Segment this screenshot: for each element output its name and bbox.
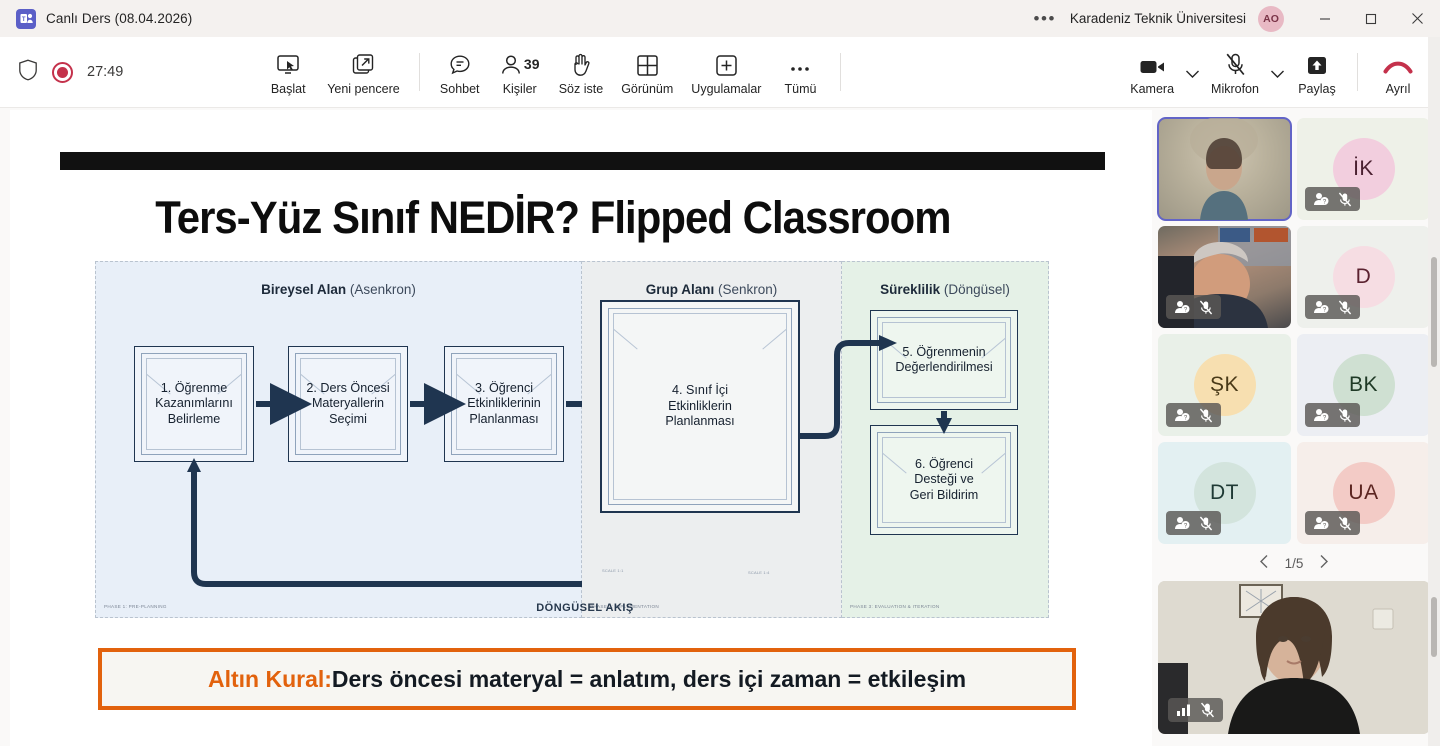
teams-meeting-window: T Canlı Ders (08.04.2026) ••• Karadeniz … — [0, 0, 1440, 746]
avatar-initials: BK — [1349, 373, 1378, 397]
chevron-left-icon[interactable] — [1259, 554, 1269, 573]
roster-page-indicator: 1/5 — [1285, 556, 1304, 571]
microphone-muted-icon — [1338, 408, 1352, 423]
diagram-step-box: 3. Öğrenci Etkinliklerinin Planlanması — [444, 346, 564, 462]
participant-tile[interactable]: İK ? — [1297, 118, 1430, 220]
microphone-button[interactable]: Mikrofon — [1202, 49, 1268, 96]
plus-square-icon — [715, 51, 738, 77]
toolbar-label: Paylaş — [1298, 82, 1336, 96]
avatar-initials: D — [1356, 265, 1372, 289]
toolbar-divider — [419, 53, 420, 91]
camera-off-icon: ? — [1174, 300, 1190, 314]
layout-grid-icon — [636, 51, 659, 77]
self-view-controls — [1168, 698, 1223, 722]
toolbar-label: Yeni pencere — [327, 82, 400, 96]
participant-controls: ? — [1305, 403, 1360, 427]
camera-icon — [1139, 51, 1166, 77]
scale-note: SCALE 1:1 — [602, 568, 624, 573]
avatar-initials: UA — [1348, 481, 1378, 505]
toolbar-label: Söz iste — [559, 82, 603, 96]
golden-rule-text: Ders öncesi materyal = anlatım, ders içi… — [332, 666, 966, 693]
toolbar-label: Başlat — [271, 82, 306, 96]
camera-off-icon: ? — [1313, 300, 1329, 314]
open-new-window-icon — [351, 51, 375, 77]
scale-note: SCALE 1:4 — [748, 570, 770, 575]
hang-up-icon — [1383, 51, 1413, 77]
participant-tile[interactable]: ? — [1158, 226, 1291, 328]
title-bar-right: ••• Karadeniz Teknik Üniversitesi AO — [1020, 0, 1440, 37]
camera-off-icon: ? — [1313, 192, 1329, 206]
microphone-muted-icon — [1200, 702, 1215, 718]
participant-controls: ? — [1305, 187, 1360, 211]
toolbar-label: Ayrıl — [1386, 82, 1411, 96]
microphone-chevron-down-icon[interactable] — [1268, 49, 1287, 95]
shield-icon[interactable] — [18, 59, 38, 86]
camera-off-icon: ? — [1174, 408, 1190, 422]
participant-tile[interactable]: UA ? — [1297, 442, 1430, 544]
panel-title-rest: (Döngüsel) — [940, 282, 1010, 297]
start-presenting-button[interactable]: Başlat — [258, 49, 318, 96]
close-button[interactable] — [1394, 0, 1440, 37]
avatar[interactable]: AO — [1258, 6, 1284, 32]
roster-pager: 1/5 — [1158, 554, 1430, 573]
presentation-slide: Ters-Yüz Sınıf NEDİR? Flipped Classroom … — [10, 110, 1152, 746]
toolbar-label: Kamera — [1130, 82, 1174, 96]
loop-label: DÖNGÜSEL AKIŞ — [95, 602, 1075, 614]
step-label: 3. Öğrenci Etkinliklerinin Planlanması — [461, 381, 547, 427]
people-count-badge: 39 — [524, 56, 540, 72]
step-label: 1. Öğrenme Kazanımlarını Belirleme — [149, 381, 239, 427]
toolbar-label: Tümü — [784, 82, 816, 96]
avatar-initials: İK — [1353, 157, 1374, 181]
diagram-step-box: 5. Öğrenmenin Değerlendirilmesi — [870, 310, 1018, 410]
camera-off-icon: ? — [1313, 516, 1329, 530]
diagram-step-box: 1. Öğrenme Kazanımlarını Belirleme — [134, 346, 254, 462]
step-label: 5. Öğrenmenin Değerlendirilmesi — [889, 345, 998, 376]
toolbar-label: Mikrofon — [1211, 82, 1259, 96]
camera-off-icon: ? — [1174, 516, 1190, 530]
panel-title-rest: (Senkron) — [714, 282, 777, 297]
participant-tile[interactable]: DT ? — [1158, 442, 1291, 544]
microphone-muted-icon — [1199, 408, 1213, 423]
title-more-button[interactable]: ••• — [1020, 10, 1070, 27]
panel-title-bold: Grup Alanı — [646, 282, 715, 297]
scrollbar-thumb-secondary[interactable] — [1431, 597, 1437, 657]
participant-grid: İK ? — [1158, 118, 1430, 544]
flipped-classroom-diagram: Bireysel Alan (Asenkron) 1. Öğrenme Kaza… — [95, 261, 1075, 618]
minimize-button[interactable] — [1302, 0, 1348, 37]
leave-button[interactable]: Ayrıl — [1368, 49, 1428, 96]
participant-roster: İK ? — [1158, 118, 1430, 738]
window-scrollbar[interactable] — [1428, 37, 1440, 746]
toolbar-center-group: Başlat Yeni pencere — [258, 49, 851, 96]
participant-tile-active-speaker[interactable] — [1158, 118, 1291, 220]
title-bar: T Canlı Ders (08.04.2026) ••• Karadeniz … — [0, 0, 1440, 37]
meeting-status-group: 27:49 — [0, 59, 123, 86]
panel-title-rest: (Asenkron) — [346, 282, 416, 297]
title-bar-left: T Canlı Ders (08.04.2026) — [0, 9, 192, 29]
participant-controls: ? — [1166, 295, 1221, 319]
more-actions-button[interactable]: Tümü — [770, 49, 830, 96]
participant-controls: ? — [1166, 511, 1221, 535]
signal-bars-icon — [1176, 703, 1191, 717]
maximize-button[interactable] — [1348, 0, 1394, 37]
slide-title: Ters-Yüz Sınıf NEDİR? Flipped Classroom — [60, 192, 1046, 244]
present-screen-icon — [275, 51, 301, 77]
participant-tile[interactable]: D ? — [1297, 226, 1430, 328]
share-up-arrow-icon — [1304, 51, 1330, 77]
self-view-tile[interactable] — [1158, 581, 1430, 734]
golden-rule-box: Altın Kural: Ders öncesi materyal = anla… — [98, 648, 1076, 710]
chat-button[interactable]: Sohbet — [430, 49, 490, 96]
svg-text:T: T — [21, 17, 25, 23]
camera-off-icon: ? — [1313, 408, 1329, 422]
teams-logo-icon: T — [16, 9, 36, 29]
participant-controls: ? — [1166, 403, 1221, 427]
panel-title-bold: Bireysel Alan — [261, 282, 346, 297]
toolbar-divider — [840, 53, 841, 91]
panel-title: Bireysel Alan (Asenkron) — [96, 282, 581, 297]
camera-button[interactable]: Kamera — [1121, 49, 1183, 96]
panel-title-bold: Süreklilik — [880, 282, 940, 297]
step-label: 4. Sınıf İçi Etkinliklerin Planlanması — [659, 383, 740, 429]
microphone-muted-icon — [1224, 51, 1247, 77]
avatar-initials: ŞK — [1210, 373, 1239, 397]
panel-title: Grup Alanı (Senkron) — [582, 282, 841, 297]
diagram-panel-individual: Bireysel Alan (Asenkron) 1. Öğrenme Kaza… — [95, 261, 582, 618]
slide-top-rule — [60, 152, 1105, 170]
golden-rule-label: Altın Kural: — [208, 666, 332, 693]
toolbar-label: Uygulamalar — [691, 82, 761, 96]
toolbar-label: Kişiler — [503, 82, 537, 96]
more-dots-icon — [788, 51, 812, 77]
new-window-button[interactable]: Yeni pencere — [318, 49, 409, 96]
participant-tile[interactable]: BK ? — [1297, 334, 1430, 436]
people-button[interactable]: 39 Kişiler — [490, 49, 550, 96]
toolbar-label: Görünüm — [621, 82, 673, 96]
diagram-step-box: 6. Öğrenci Desteği ve Geri Bildirim — [870, 425, 1018, 535]
shared-content-stage[interactable]: Ters-Yüz Sınıf NEDİR? Flipped Classroom … — [10, 110, 1152, 746]
organization-label: Karadeniz Teknik Üniversitesi — [1070, 11, 1258, 26]
people-icon: 39 — [500, 51, 540, 77]
diagram-panel-continuity: Süreklilik (Döngüsel) 5. Öğrenmenin Değe… — [842, 261, 1049, 618]
toolbar-label: Sohbet — [440, 82, 480, 96]
avatar-initials: DT — [1210, 481, 1239, 505]
panel-title: Süreklilik (Döngüsel) — [842, 282, 1048, 297]
record-icon — [52, 62, 73, 83]
step-label: 2. Ders Öncesi Materyallerin Seçimi — [300, 381, 395, 427]
diagram-panel-group: Grup Alanı (Senkron) 4. Sınıf İçi Etkinl… — [582, 261, 842, 618]
participant-controls: ? — [1305, 295, 1360, 319]
chevron-right-icon[interactable] — [1319, 554, 1329, 573]
raise-hand-button[interactable]: Söz iste — [550, 49, 612, 96]
microphone-muted-icon — [1199, 300, 1213, 315]
microphone-muted-icon — [1338, 516, 1352, 531]
camera-chevron-down-icon[interactable] — [1183, 49, 1202, 95]
step-label: 6. Öğrenci Desteği ve Geri Bildirim — [904, 457, 985, 503]
scrollbar-thumb[interactable] — [1431, 257, 1437, 367]
participant-controls: ? — [1305, 511, 1360, 535]
raise-hand-icon — [570, 51, 592, 77]
share-button[interactable]: Paylaş — [1287, 49, 1347, 96]
meeting-timer: 27:49 — [87, 64, 123, 80]
window-title: Canlı Ders (08.04.2026) — [46, 11, 192, 26]
diagram-step-box: 2. Ders Öncesi Materyallerin Seçimi — [288, 346, 408, 462]
microphone-muted-icon — [1338, 300, 1352, 315]
meeting-toolbar: 27:49 Başlat — [0, 37, 1440, 108]
diagram-step-box: 4. Sınıf İçi Etkinliklerin Planlanması — [600, 300, 800, 513]
participant-tile[interactable]: ŞK ? — [1158, 334, 1291, 436]
chat-bubble-icon — [448, 51, 472, 77]
toolbar-right-group: Kamera Mikrofon — [1121, 49, 1440, 96]
participant-video — [1158, 118, 1291, 220]
microphone-muted-icon — [1338, 192, 1352, 207]
view-button[interactable]: Görünüm — [612, 49, 682, 96]
microphone-muted-icon — [1199, 516, 1213, 531]
toolbar-divider — [1357, 53, 1358, 91]
apps-button[interactable]: Uygulamalar — [682, 49, 770, 96]
